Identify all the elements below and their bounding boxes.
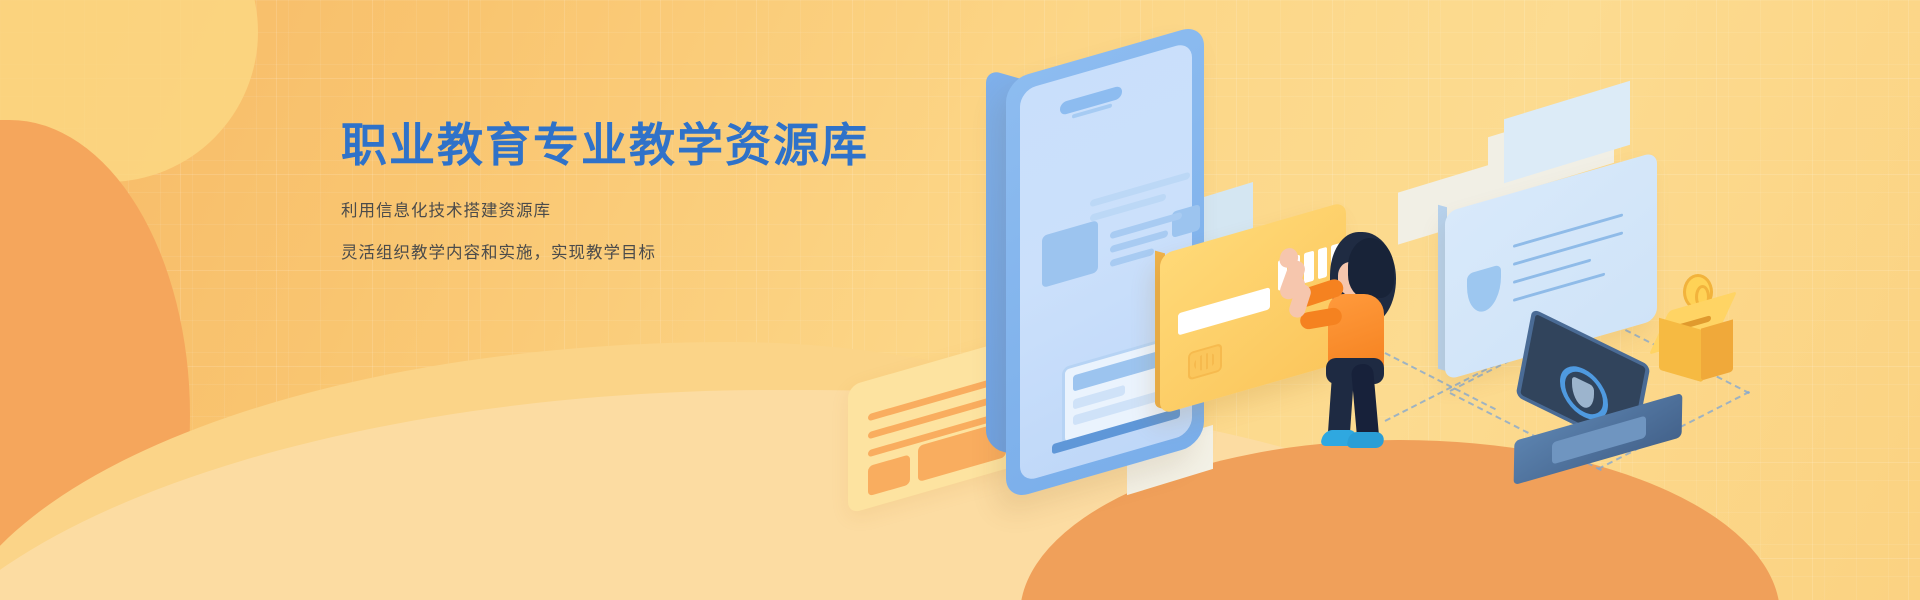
banner-subtitle-line-2: 灵活组织教学内容和实施，实现教学目标 (341, 244, 981, 264)
woman-using-phone-illustration (1278, 232, 1428, 440)
hero-illustration (0, 0, 1920, 600)
banner-title: 职业教育专业教学资源库 (341, 118, 981, 172)
coin-box-side (1701, 319, 1733, 380)
shield-icon (1467, 264, 1501, 316)
coin-deposit-box-illustration (1643, 258, 1753, 388)
banner-copy-block: 职业教育专业教学资源库 利用信息化技术搭建资源库 灵活组织教学内容和实施，实现教… (341, 118, 981, 264)
bubble-text-line (1513, 213, 1623, 248)
bubble-text-line (1513, 231, 1623, 266)
person-shoe (1346, 432, 1386, 448)
credit-card-chip-icon (1188, 343, 1222, 381)
hero-banner: 职业教育专业教学资源库 利用信息化技术搭建资源库 灵活组织教学内容和实施，实现教… (0, 0, 1920, 600)
person-hair-front (1348, 238, 1394, 298)
credit-card-magnetic-strip (1178, 287, 1270, 335)
banner-subtitle-line-1: 利用信息化技术搭建资源库 (341, 202, 981, 222)
card-block-small (868, 454, 910, 496)
person-hand (1288, 276, 1305, 293)
